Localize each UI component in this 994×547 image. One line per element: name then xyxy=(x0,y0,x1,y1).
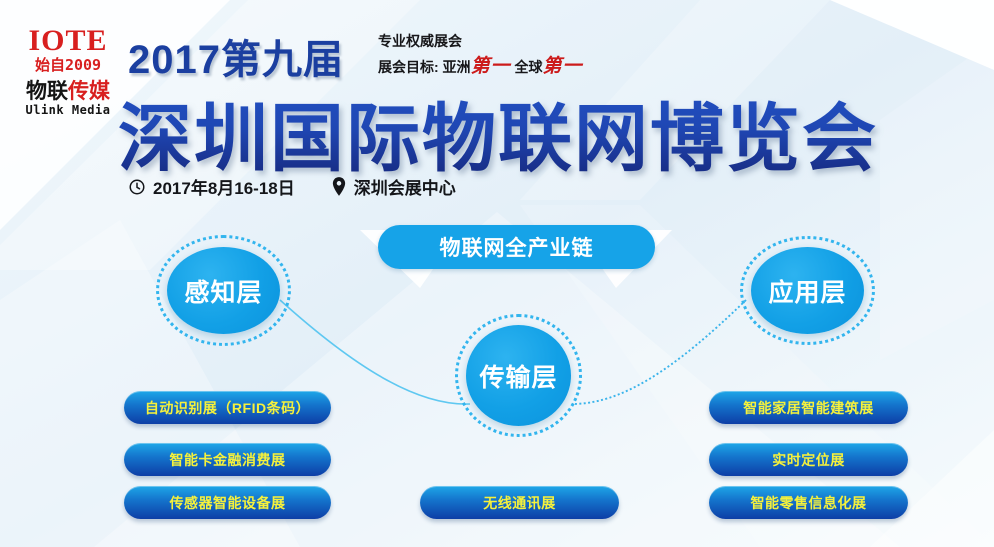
tagline-line-1: 专业权威展会 xyxy=(378,31,582,52)
exhibit-pill[interactable]: 自动识别展（RFID条码） xyxy=(124,391,331,424)
location-pin-icon xyxy=(331,177,347,196)
tagline: 专业权威展会 展会目标: 亚洲第一 全球第一 xyxy=(378,31,582,81)
layer-circle-sense: 感知层 xyxy=(167,247,280,334)
dotted-ring-icon xyxy=(740,236,875,345)
event-meta: 2017年8月16-18日 深圳会展中心 xyxy=(128,174,456,199)
edition-title: 2017第九届 xyxy=(128,27,344,85)
exhibit-pill[interactable]: 无线通讯展 xyxy=(420,486,619,519)
logo-media-en: Ulink Media xyxy=(14,104,122,116)
poster-banner: IOTE 始自2009 物联传媒 Ulink Media 2017第九届 专业权… xyxy=(0,0,994,547)
logo-media-cn: 物联传媒 xyxy=(14,81,122,102)
tagline-global-first: 第一 xyxy=(542,55,582,77)
logo-iote-text: IOTE xyxy=(14,26,122,56)
layer-circle-application: 应用层 xyxy=(751,247,864,334)
tagline-asia-first: 第一 xyxy=(471,55,511,77)
tagline-goal-prefix: 展会目标: 亚洲 xyxy=(378,59,471,75)
logo-media-cn-red: 传媒 xyxy=(68,80,110,103)
clock-icon xyxy=(128,178,146,196)
exhibit-pill[interactable]: 智能家居智能建筑展 xyxy=(709,391,908,424)
dotted-ring-icon xyxy=(455,314,582,437)
tagline-line-2: 展会目标: 亚洲第一 全球第一 xyxy=(378,52,582,81)
exhibit-pill[interactable]: 智能卡金融消费展 xyxy=(124,443,331,476)
logo-media-cn-black: 物联 xyxy=(26,80,68,103)
event-venue: 深圳会展中心 xyxy=(354,174,456,199)
page-title: 深圳国际物联网博览会 xyxy=(118,79,878,186)
event-date: 2017年8月16-18日 xyxy=(153,174,295,199)
dotted-ring-icon xyxy=(156,235,291,346)
exhibit-pill[interactable]: 传感器智能设备展 xyxy=(124,486,331,519)
chain-pill: 物联网全产业链 xyxy=(378,225,655,269)
exhibit-pill[interactable]: 智能零售信息化展 xyxy=(709,486,908,519)
iote-logo: IOTE 始自2009 物联传媒 Ulink Media xyxy=(14,26,122,116)
tagline-global-label: 全球 xyxy=(514,59,542,75)
logo-since-text: 始自2009 xyxy=(14,58,122,73)
layer-circle-transport: 传输层 xyxy=(466,325,571,426)
exhibit-pill[interactable]: 实时定位展 xyxy=(709,443,908,476)
